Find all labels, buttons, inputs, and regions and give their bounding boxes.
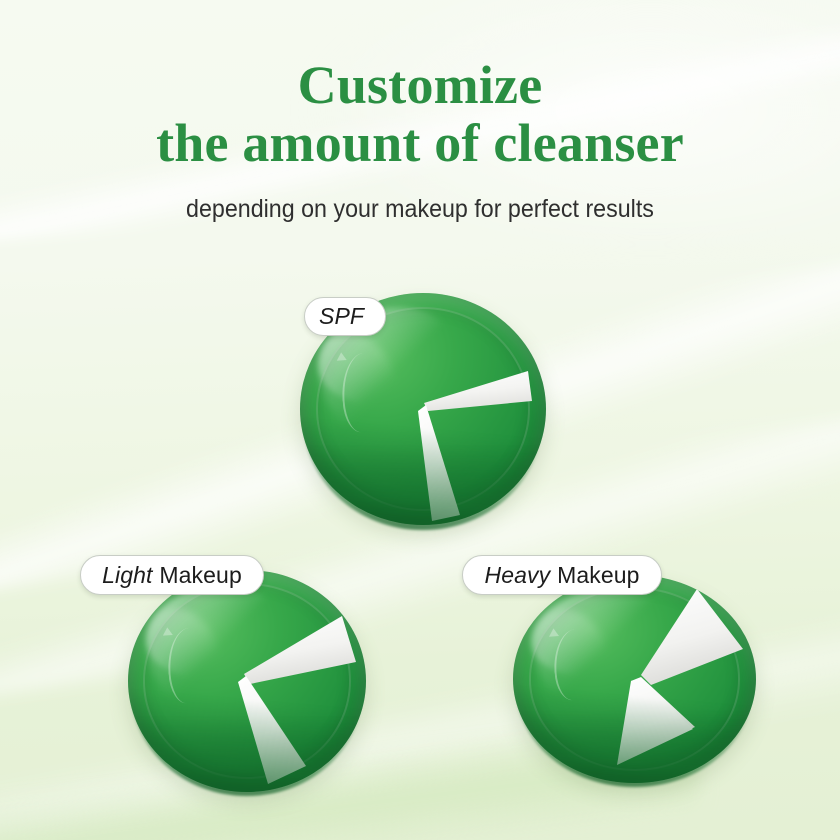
jar-lid-ring [130, 579, 363, 797]
page-title-line-1: Customize [0, 56, 840, 114]
label-emphasis-spf: SPF [319, 303, 364, 329]
header-block: Customize the amount of cleanser dependi… [0, 56, 840, 224]
label-pill-light-makeup[interactable]: LightMakeup [80, 555, 264, 595]
label-rest-light: Makeup [159, 562, 241, 588]
label-emphasis-heavy: Heavy [484, 562, 550, 588]
label-emphasis-light: Light [102, 562, 152, 588]
label-pill-spf[interactable]: SPF [304, 297, 386, 336]
jar-heavy-makeup [513, 575, 756, 783]
jar-lid-ring [302, 302, 543, 529]
jar-light-makeup [128, 570, 366, 792]
promo-graphic: Customize the amount of cleanser dependi… [0, 0, 840, 840]
label-rest-heavy: Makeup [557, 562, 639, 588]
page-title-line-2: the amount of cleanser [0, 114, 840, 172]
jar-lid-ring [515, 583, 753, 787]
label-pill-heavy-makeup[interactable]: HeavyMakeup [462, 555, 662, 595]
page-subtitle: depending on your makeup for perfect res… [29, 194, 810, 224]
